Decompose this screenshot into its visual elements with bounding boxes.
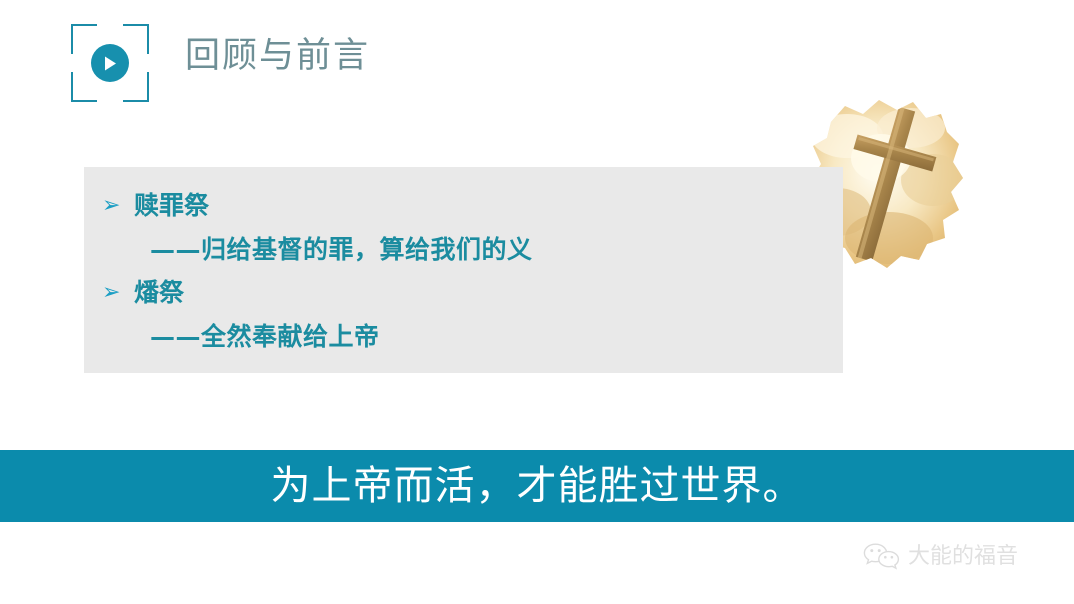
wechat-icon [862,540,902,574]
viewfinder-bracket-corner-bl-icon [71,72,97,102]
list-item: ➢ 燔祭 [100,272,833,314]
bullet-detail: ——归给基督的罪，算给我们的义 [150,228,533,271]
viewfinder-bracket-corner-br-icon [123,72,149,102]
bullet-heading: 赎罪祭 [134,185,209,227]
list-item-detail: ——全然奉献给上帝 [100,315,833,358]
arrow-bullet-icon: ➢ [100,185,134,227]
content-panel: ➢ 赎罪祭 ——归给基督的罪，算给我们的义 ➢ 燔祭 ——全然奉献给上帝 [84,167,843,373]
watermark-label: 大能的福音 [908,542,1018,572]
viewfinder-bracket-corner-tr-icon [123,24,149,54]
bullet-heading: 燔祭 [134,272,184,314]
list-item: ➢ 赎罪祭 [100,185,833,227]
page-title: 回顾与前言 [185,33,370,79]
banner-text: 为上帝而活，才能胜过世界。 [271,460,804,512]
title-badge [71,24,149,102]
viewfinder-bracket-icon [71,24,97,54]
list-item-detail: ——归给基督的罪，算给我们的义 [100,228,833,271]
bullet-detail: ——全然奉献给上帝 [150,315,380,358]
bottom-banner: 为上帝而活，才能胜过世界。 [0,450,1074,522]
slide-canvas: 回顾与前言 [0,0,1074,604]
play-icon [91,44,129,82]
bullet-list: ➢ 赎罪祭 ——归给基督的罪，算给我们的义 ➢ 燔祭 ——全然奉献给上帝 [100,185,833,359]
watermark: 大能的福音 [862,540,1018,574]
arrow-bullet-icon: ➢ [100,272,134,314]
